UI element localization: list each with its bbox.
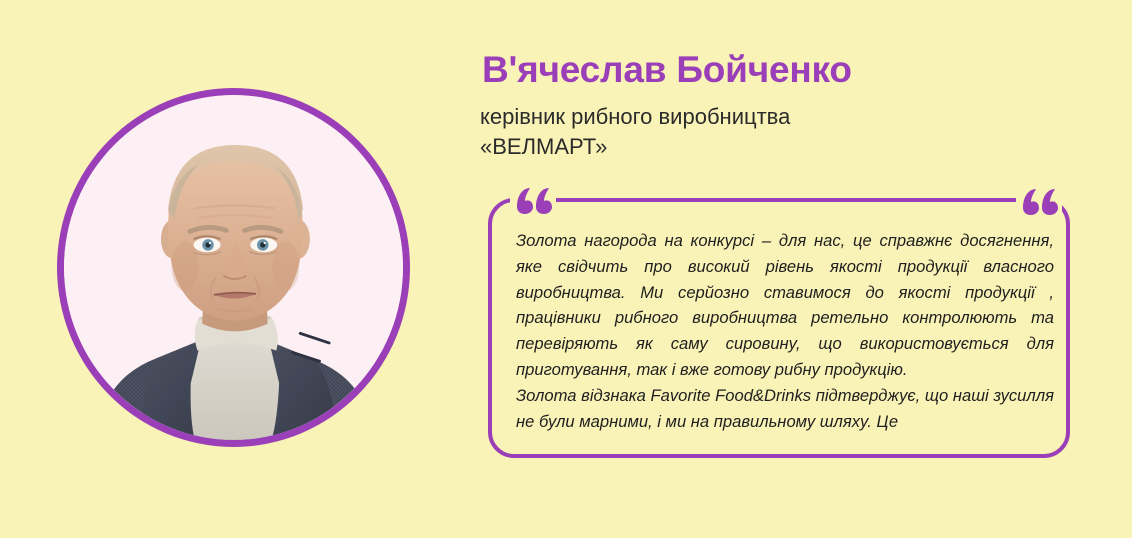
- person-role: керівник рибного виробництва «ВЕЛМАРТ»: [480, 102, 790, 162]
- quote-open-icon: [510, 185, 556, 215]
- avatar: [57, 88, 410, 447]
- quote-box: Золота нагорода на конкурсі – для нас, ц…: [488, 198, 1070, 458]
- person-role-line-1: керівник рибного виробництва: [480, 102, 790, 132]
- testimonial-content: В'ячеслав Бойченко керівник рибного виро…: [478, 0, 1098, 538]
- person-name: В'ячеслав Бойченко: [482, 48, 852, 92]
- testimonial-card: В'ячеслав Бойченко керівник рибного виро…: [0, 0, 1132, 538]
- quote-paragraph-2: Золота відзнака Favorite Food&Drinks під…: [516, 383, 1054, 435]
- person-role-line-2: «ВЕЛМАРТ»: [480, 132, 790, 162]
- portrait-illustration: [64, 95, 403, 440]
- quote-close-icon: [1016, 186, 1062, 216]
- quote-paragraph-1: Золота нагорода на конкурсі – для нас, ц…: [516, 228, 1054, 383]
- quote-text: Золота нагорода на конкурсі – для нас, ц…: [516, 228, 1054, 434]
- avatar-image: [64, 95, 403, 440]
